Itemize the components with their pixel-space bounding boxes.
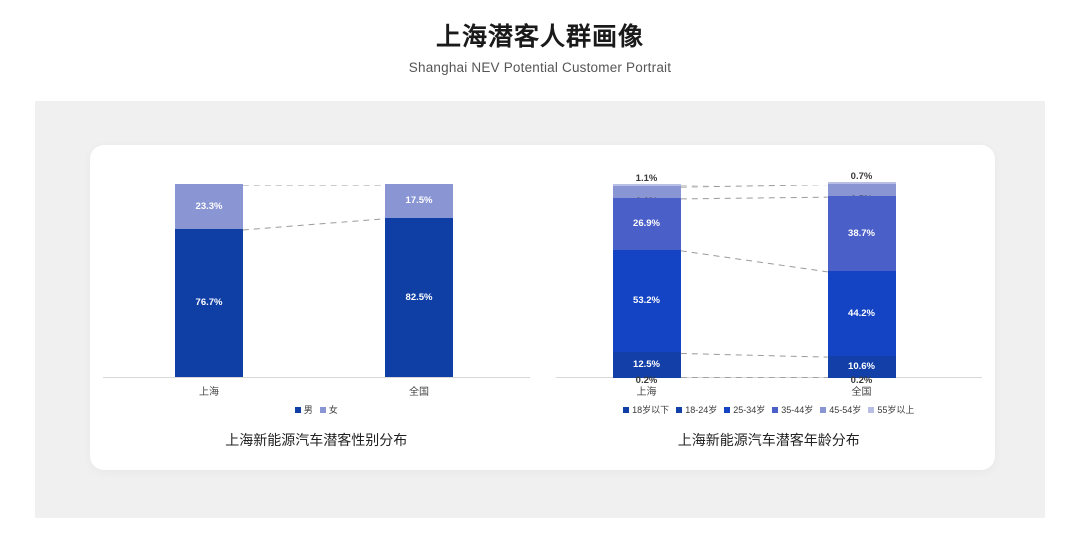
legend-item[interactable]: 男 <box>295 403 313 416</box>
bar-segment-label: 82.5% <box>406 293 433 303</box>
gender-plot-area: 23.3%76.7%17.5%82.5% <box>90 185 543 378</box>
gender-chart-caption: 上海新能源汽车潜客性别分布 <box>90 430 543 450</box>
legend-item[interactable]: 55岁以上 <box>868 403 914 416</box>
connector-lines <box>90 185 543 378</box>
bar-segment: 23.3% <box>175 184 243 229</box>
bar-segment-label: 0.7% <box>851 172 873 182</box>
legend-item[interactable]: 18岁以下 <box>623 403 669 416</box>
legend-item[interactable]: 女 <box>320 403 338 416</box>
legend-label: 男 <box>304 403 313 416</box>
legend-swatch-icon <box>623 407 629 413</box>
age-chart-caption: 上海新能源汽车潜客年龄分布 <box>543 430 996 450</box>
legend-swatch-icon <box>320 407 326 413</box>
stacked-bar: 0.7%6.5%38.7%44.2%10.6%0.2% <box>828 182 896 377</box>
x-axis-label: 上海 <box>199 383 219 398</box>
bar-segment-label: 44.2% <box>848 309 875 319</box>
page-title: 上海潜客人群画像 <box>0 22 1080 53</box>
bar-segment: 38.7% <box>828 196 896 271</box>
legend-label: 女 <box>329 403 338 416</box>
x-axis-label: 上海 <box>637 383 657 398</box>
age-axis-line <box>556 377 983 378</box>
x-axis-label: 全国 <box>409 383 429 398</box>
connector-lines <box>543 185 996 378</box>
bar-segment-label: 1.1% <box>636 174 658 184</box>
page-header: 上海潜客人群画像 Shanghai NEV Potential Customer… <box>0 0 1080 75</box>
bar-segment: 82.5% <box>385 218 453 377</box>
bar-segment-label: 53.2% <box>633 296 660 306</box>
legend-label: 18岁以下 <box>632 403 669 416</box>
stacked-bar: 1.1%6.1%26.9%53.2%12.5%0.2% <box>613 184 681 377</box>
bar-segment-label: 38.7% <box>848 229 875 239</box>
bar-segment: 44.2% <box>828 271 896 356</box>
bar-segment-label: 23.3% <box>196 202 223 212</box>
gender-axis-line <box>103 377 530 378</box>
bar-segment-label: 10.6% <box>848 362 875 372</box>
legend-swatch-icon <box>724 407 730 413</box>
legend-label: 45-54岁 <box>829 403 861 416</box>
legend-label: 55岁以上 <box>877 403 914 416</box>
chart-age-distribution: 1.1%6.1%26.9%53.2%12.5%0.2%0.7%6.5%38.7%… <box>543 145 996 470</box>
bar-segment: 17.5% <box>385 184 453 218</box>
gender-x-labels: 上海全国 <box>90 383 543 399</box>
legend-swatch-icon <box>868 407 874 413</box>
age-plot-area: 1.1%6.1%26.9%53.2%12.5%0.2%0.7%6.5%38.7%… <box>543 185 996 378</box>
bar-segment-label: 12.5% <box>633 360 660 370</box>
gender-legend: 男女 <box>90 403 543 416</box>
stacked-bar: 23.3%76.7% <box>175 184 243 377</box>
legend-label: 18-24岁 <box>685 403 717 416</box>
bar-segment: 6.1% <box>613 186 681 198</box>
legend-swatch-icon <box>295 407 301 413</box>
legend-item[interactable]: 45-54岁 <box>820 403 861 416</box>
age-x-labels: 上海全国 <box>543 383 996 399</box>
bar-segment: 10.6% <box>828 356 896 376</box>
charts-row: 23.3%76.7%17.5%82.5% 上海全国 男女 上海新能源汽车潜客性别… <box>90 145 995 470</box>
stacked-bar: 17.5%82.5% <box>385 184 453 377</box>
legend-item[interactable]: 35-44岁 <box>772 403 813 416</box>
legend-swatch-icon <box>676 407 682 413</box>
bar-segment: 53.2% <box>613 250 681 353</box>
page-subtitle: Shanghai NEV Potential Customer Portrait <box>0 60 1080 75</box>
legend-swatch-icon <box>772 407 778 413</box>
bar-segment: 76.7% <box>175 229 243 377</box>
bar-segment: 6.5% <box>828 184 896 197</box>
chart-gender-distribution: 23.3%76.7%17.5%82.5% 上海全国 男女 上海新能源汽车潜客性别… <box>90 145 543 470</box>
legend-item[interactable]: 25-34岁 <box>724 403 765 416</box>
bar-segment: 26.9% <box>613 198 681 250</box>
legend-item[interactable]: 18-24岁 <box>676 403 717 416</box>
x-axis-label: 全国 <box>852 383 872 398</box>
bar-segment-label: 76.7% <box>196 298 223 308</box>
bar-segment-label: 26.9% <box>633 219 660 229</box>
legend-label: 35-44岁 <box>781 403 813 416</box>
legend-label: 25-34岁 <box>733 403 765 416</box>
bar-segment-label: 17.5% <box>406 196 433 206</box>
bar-segment: 12.5% <box>613 352 681 376</box>
legend-swatch-icon <box>820 407 826 413</box>
age-legend: 18岁以下18-24岁25-34岁35-44岁45-54岁55岁以上 <box>543 403 996 416</box>
